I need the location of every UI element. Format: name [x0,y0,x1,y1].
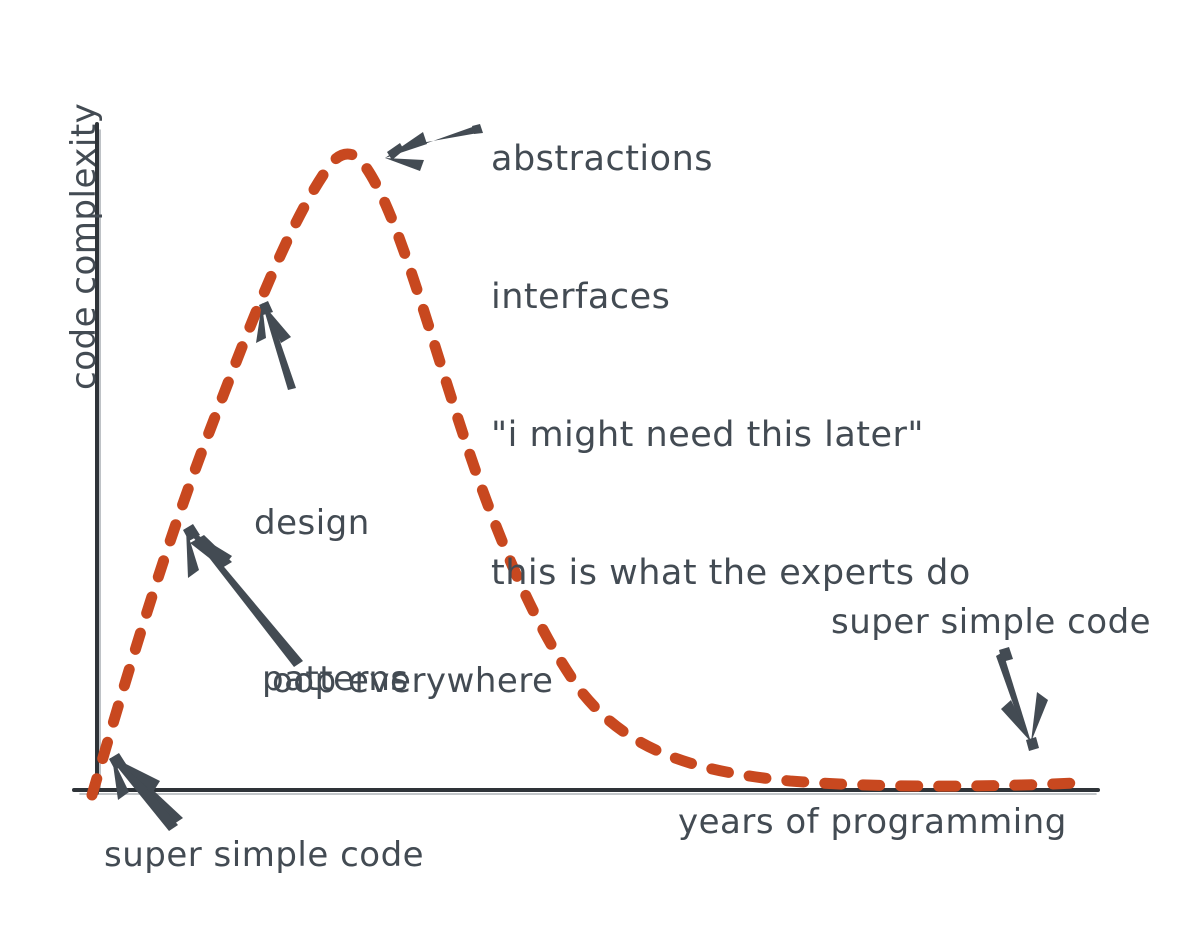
arrow-simple-right [996,647,1048,751]
annotation-design-patterns: design patterns [254,393,409,809]
annotation-design-patterns-line-1: design [254,497,409,549]
annotation-peak-line-4: this is what the experts do [491,550,971,596]
annotation-peak-line-2: interfaces [491,274,971,320]
annotation-simple-code-left: super simple code [104,833,424,878]
annotation-oop-everywhere: oop everywhere [272,659,553,704]
x-axis-label: years of programming [678,800,1067,845]
annotation-peak: abstractions interfaces "i might need th… [491,44,971,688]
annotation-simple-code-right: super simple code [831,600,1151,645]
arrow-to-peak [385,124,483,171]
annotation-peak-line-3: "i might need this later" [491,412,971,458]
arrow-design-patterns [256,301,296,390]
y-axis-label: code complexity [62,103,107,390]
chart-canvas: abstractions interfaces "i might need th… [0,0,1200,936]
annotation-peak-line-1: abstractions [491,136,971,182]
